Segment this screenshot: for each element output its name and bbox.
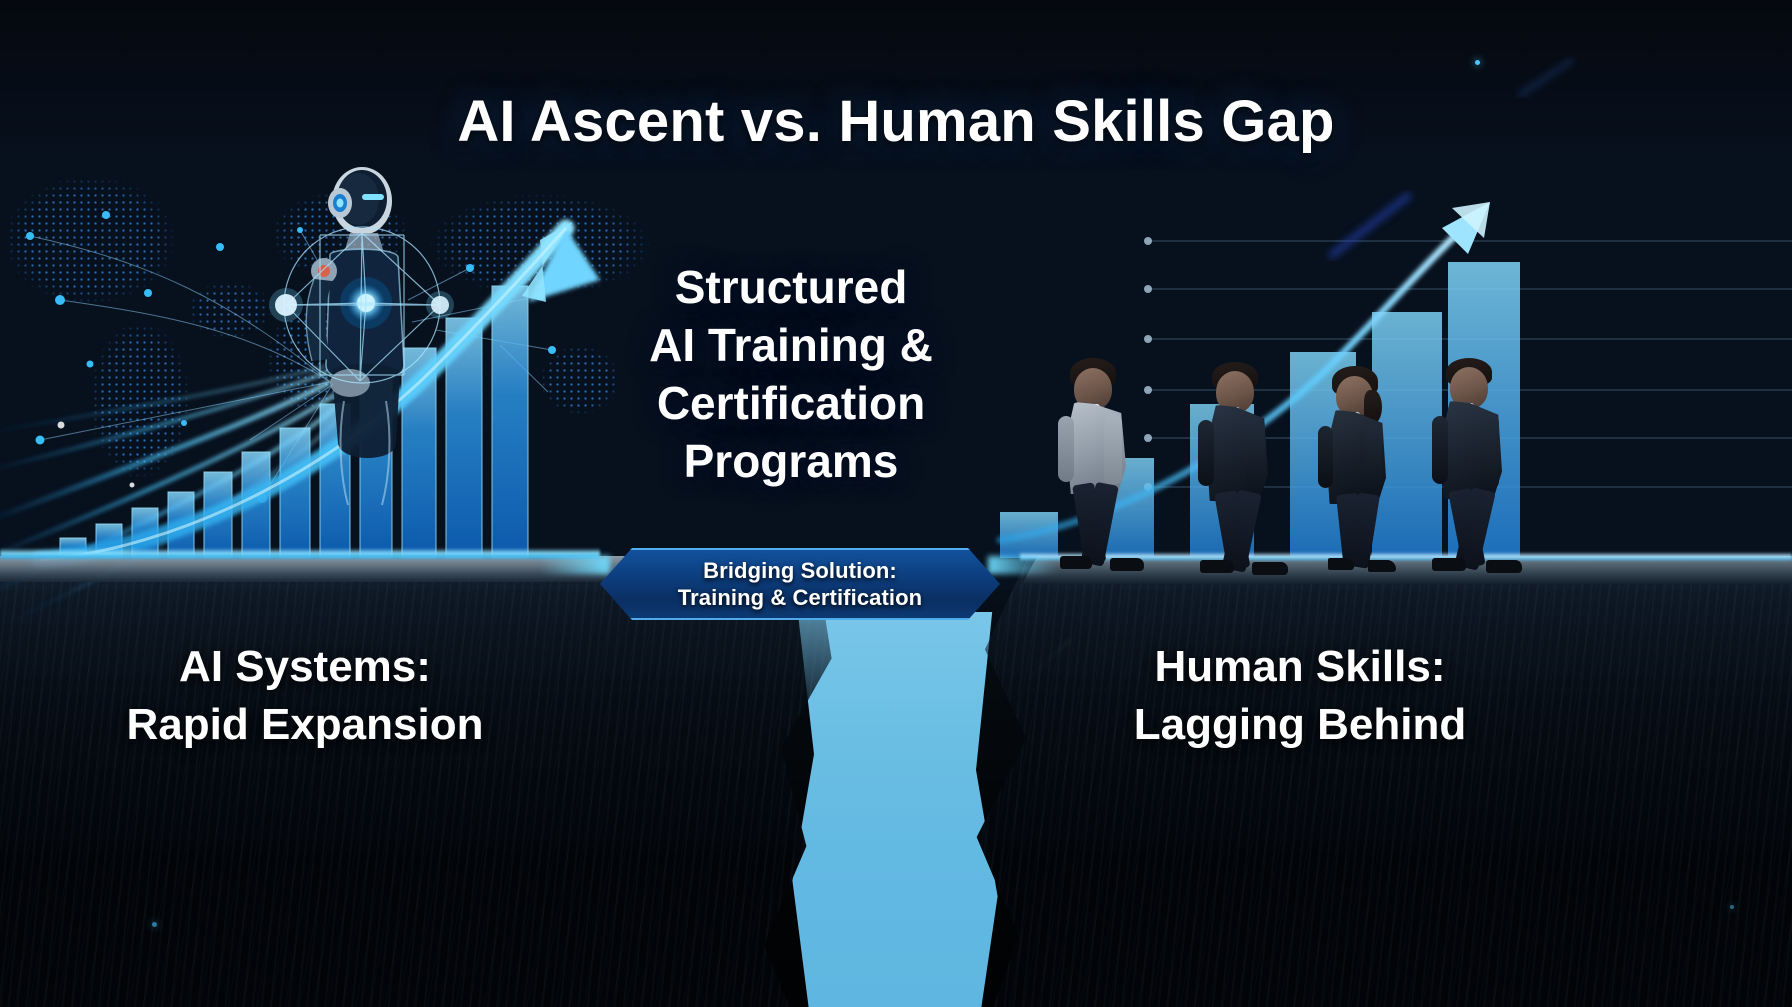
left-label-line-2: Rapid Expansion — [70, 696, 540, 754]
neon-ground-line-left — [0, 548, 600, 560]
callout-line-2: AI Training & — [596, 316, 986, 374]
right-label: Human Skills: Lagging Behind — [1060, 638, 1540, 754]
callout-line-3: Certification — [596, 374, 986, 432]
callout-line-1: Structured — [596, 258, 986, 316]
left-label: AI Systems: Rapid Expansion — [70, 638, 540, 754]
bridge-banner-text: Bridging Solution: Training & Certificat… — [600, 548, 1000, 620]
infographic-canvas: AI Ascent vs. Human Skills Gap Structure… — [0, 0, 1792, 1007]
person-walking-2 — [1184, 362, 1302, 574]
sparkle-dot — [152, 922, 157, 927]
callout-line-4: Programs — [596, 432, 986, 490]
person-walking-1 — [1040, 358, 1160, 573]
person-walking-3 — [1304, 366, 1420, 574]
bridge-banner-icon: Bridging Solution: Training & Certificat… — [600, 548, 1000, 620]
cliff-left — [0, 560, 840, 1007]
sparkle-dot — [1475, 60, 1480, 65]
cliff-right — [960, 560, 1792, 1007]
page-title: AI Ascent vs. Human Skills Gap — [0, 88, 1792, 155]
sparkle-dot — [1730, 905, 1734, 909]
bridge-line-2: Training & Certification — [678, 584, 922, 611]
right-label-line-1: Human Skills: — [1060, 638, 1540, 696]
bridge-line-1: Bridging Solution: — [703, 557, 897, 584]
center-callout: Structured AI Training & Certification P… — [596, 258, 986, 490]
person-walking-4 — [1416, 358, 1536, 574]
left-label-line-1: AI Systems: — [70, 638, 540, 696]
right-label-line-2: Lagging Behind — [1060, 696, 1540, 754]
